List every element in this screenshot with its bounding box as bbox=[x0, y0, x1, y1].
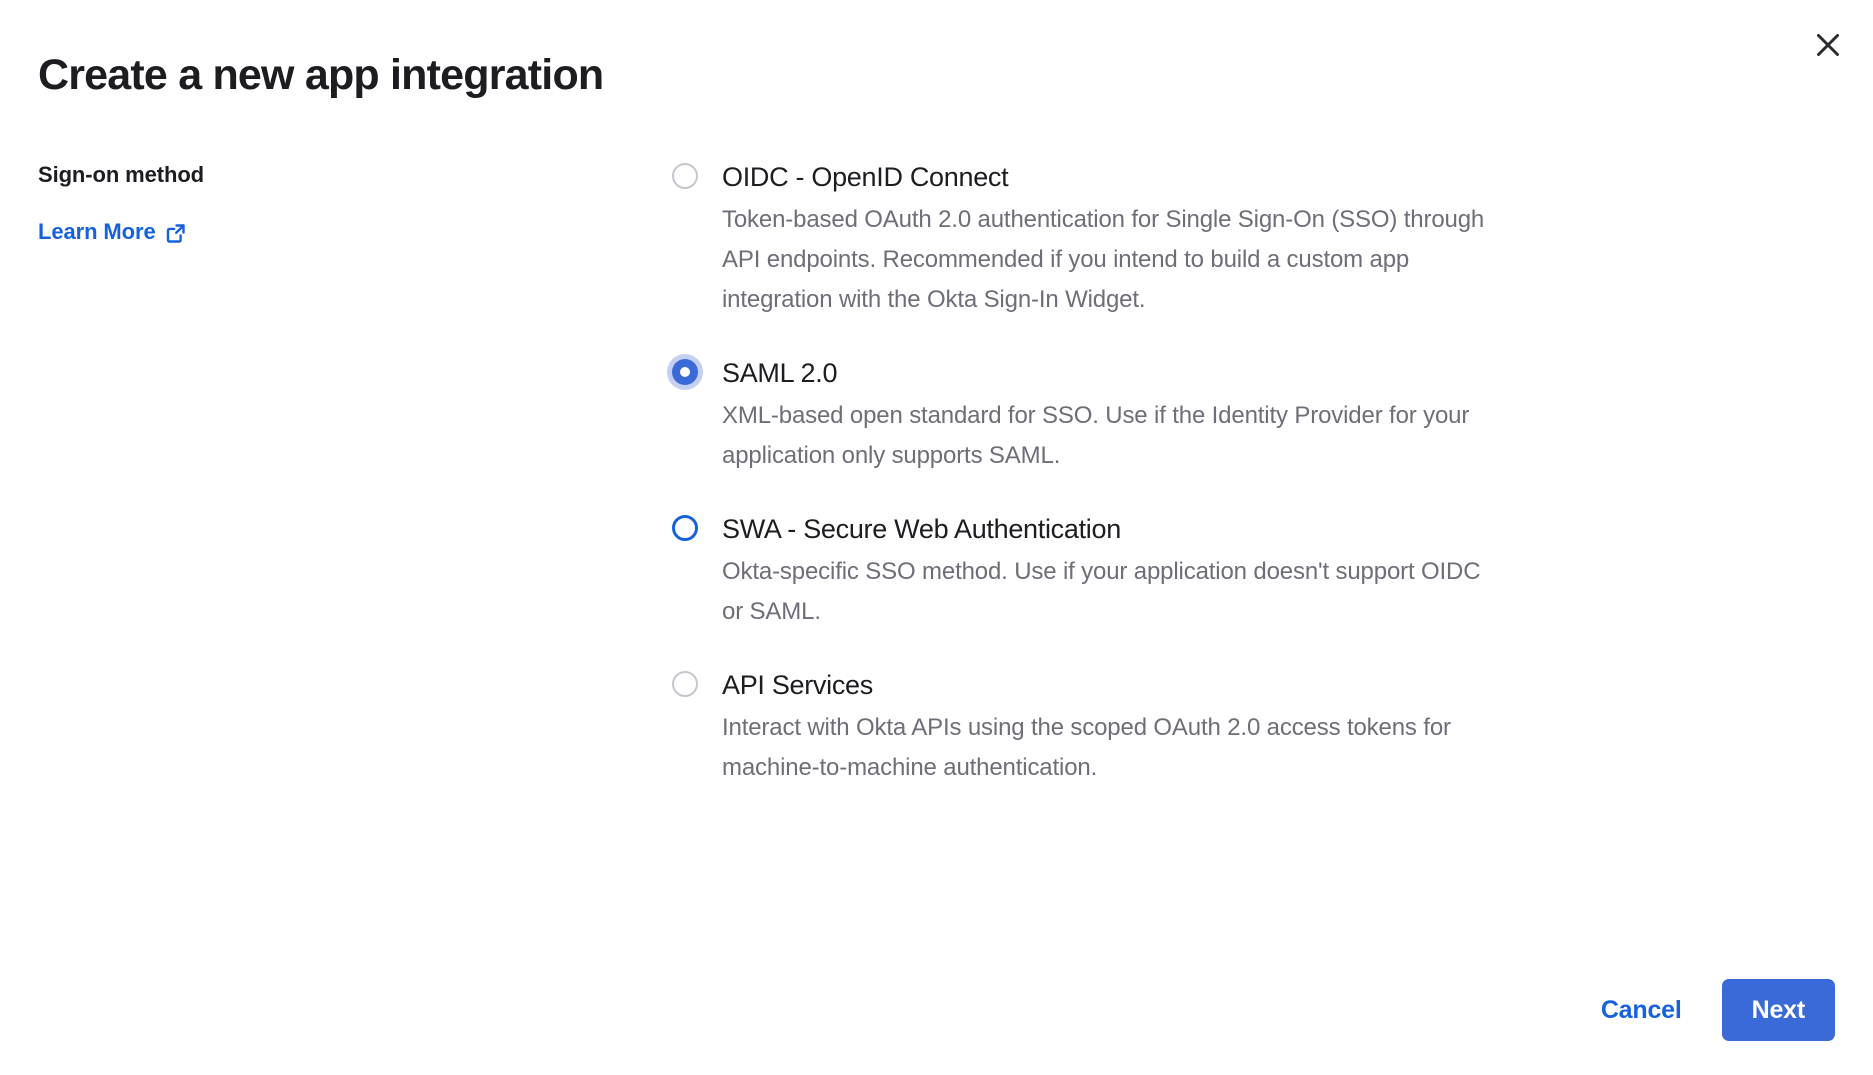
option-saml-description: XML-based open standard for SSO. Use if … bbox=[722, 396, 1500, 476]
option-saml[interactable]: SAML 2.0 XML-based open standard for SSO… bbox=[660, 356, 1500, 476]
option-oidc[interactable]: OIDC - OpenID Connect Token-based OAuth … bbox=[660, 160, 1500, 320]
option-oidc-description: Token-based OAuth 2.0 authentication for… bbox=[722, 200, 1500, 320]
option-api-services[interactable]: API Services Interact with Okta APIs usi… bbox=[660, 668, 1500, 788]
option-api-services-description: Interact with Okta APIs using the scoped… bbox=[722, 708, 1500, 788]
option-swa-description: Okta-specific SSO method. Use if your ap… bbox=[722, 552, 1500, 632]
learn-more-link[interactable]: Learn More bbox=[38, 217, 187, 247]
option-swa[interactable]: SWA - Secure Web Authentication Okta-spe… bbox=[660, 512, 1500, 632]
next-button[interactable]: Next bbox=[1722, 979, 1835, 1041]
create-app-integration-modal: Create a new app integration Sign-on met… bbox=[0, 0, 1873, 1075]
option-api-services-label: API Services bbox=[722, 668, 1500, 702]
modal-footer: Cancel Next bbox=[1595, 979, 1835, 1041]
external-link-icon bbox=[165, 222, 187, 244]
radio-oidc[interactable] bbox=[672, 163, 698, 189]
sign-on-method-options: OIDC - OpenID Connect Token-based OAuth … bbox=[660, 160, 1560, 788]
option-saml-label: SAML 2.0 bbox=[722, 356, 1500, 390]
sign-on-method-label: Sign-on method bbox=[38, 160, 660, 190]
learn-more-label: Learn More bbox=[38, 217, 156, 247]
sign-on-method-column: Sign-on method Learn More bbox=[0, 160, 660, 247]
page-title: Create a new app integration bbox=[38, 48, 603, 102]
close-icon bbox=[1815, 32, 1841, 58]
modal-body: Sign-on method Learn More OIDC - OpenID … bbox=[0, 160, 1873, 788]
close-button[interactable] bbox=[1805, 22, 1851, 68]
cancel-button[interactable]: Cancel bbox=[1595, 986, 1688, 1035]
option-swa-label: SWA - Secure Web Authentication bbox=[722, 512, 1500, 546]
radio-saml[interactable] bbox=[672, 359, 698, 385]
radio-api-services[interactable] bbox=[672, 671, 698, 697]
radio-swa[interactable] bbox=[672, 515, 698, 541]
option-oidc-label: OIDC - OpenID Connect bbox=[722, 160, 1500, 194]
